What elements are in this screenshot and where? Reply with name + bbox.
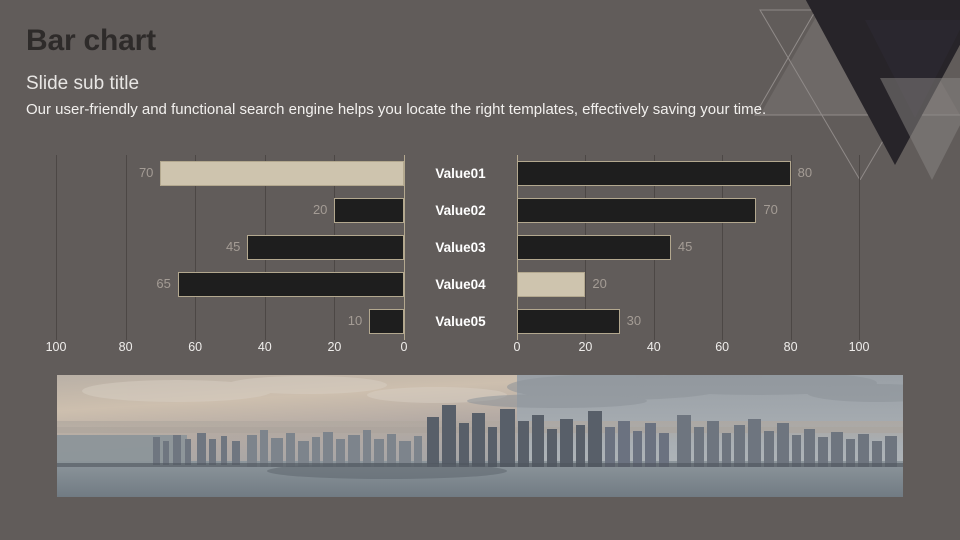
category-label-Value02: Value02 — [404, 192, 517, 229]
bar-Value03[interactable] — [517, 235, 671, 260]
page-title: Bar chart — [26, 26, 156, 56]
bar-Value01[interactable] — [160, 161, 404, 186]
bar-row[interactable]: 70 — [517, 192, 859, 229]
bar-row[interactable]: 10 — [56, 303, 404, 340]
bar-Value02[interactable] — [517, 198, 756, 223]
triangle-dark-overlap — [865, 20, 960, 118]
bar-value-label: 10 — [348, 314, 362, 327]
bar-value-label: 45 — [226, 240, 240, 253]
gridline-100 — [859, 155, 860, 340]
category-label-column: Value01Value02Value03Value04Value05 — [404, 155, 517, 340]
bar-row[interactable]: 20 — [517, 266, 859, 303]
bar-Value05[interactable] — [517, 309, 620, 334]
x-axis-left: 100806040200 — [56, 341, 404, 361]
bar-Value05[interactable] — [369, 309, 404, 334]
x-tick-40: 40 — [258, 341, 272, 354]
triangle-dark-down — [795, 0, 960, 165]
triangle-outline-up-left — [755, 8, 879, 115]
bar-row[interactable]: 65 — [56, 266, 404, 303]
x-tick-20: 20 — [578, 341, 592, 354]
triangle-decoration — [700, 0, 960, 180]
bar-row[interactable]: 45 — [56, 229, 404, 266]
x-axis-right: 020406080100 — [517, 341, 859, 361]
x-tick-20: 20 — [327, 341, 341, 354]
x-tick-80: 80 — [784, 341, 798, 354]
triangle-light-upper — [760, 0, 960, 115]
x-tick-60: 60 — [188, 341, 202, 354]
bar-chart-left: 7020456510 — [56, 155, 404, 340]
bar-value-label: 30 — [627, 314, 641, 327]
bar-value-label: 20 — [592, 277, 606, 290]
bar-value-label: 20 — [313, 203, 327, 216]
bar-chart-group: 7020456510 Value01Value02Value03Value04V… — [0, 155, 960, 360]
bar-row[interactable]: 30 — [517, 303, 859, 340]
bar-row[interactable]: 20 — [56, 192, 404, 229]
cityscape-photo-svg — [57, 375, 903, 497]
bar-chart-right: 8070452030 — [517, 155, 859, 340]
x-tick-0: 0 — [401, 341, 408, 354]
bar-Value03[interactable] — [247, 235, 404, 260]
bar-Value01[interactable] — [517, 161, 791, 186]
bar-value-label: 45 — [678, 240, 692, 253]
x-tick-0: 0 — [514, 341, 521, 354]
x-tick-80: 80 — [119, 341, 133, 354]
triangle-outline-up-right — [880, 8, 960, 115]
bar-row[interactable]: 45 — [517, 229, 859, 266]
bar-value-label: 80 — [798, 166, 812, 179]
bar-Value04[interactable] — [178, 272, 404, 297]
category-label-Value01: Value01 — [404, 155, 517, 192]
x-tick-100: 100 — [849, 341, 870, 354]
triangle-decoration-svg — [700, 0, 960, 180]
bar-value-label: 70 — [763, 203, 777, 216]
bar-Value04[interactable] — [517, 272, 585, 297]
x-tick-60: 60 — [715, 341, 729, 354]
page-lead-text: Our user-friendly and functional search … — [26, 100, 766, 120]
x-tick-100: 100 — [46, 341, 67, 354]
slide-canvas: Bar chart Slide sub title Our user-frien… — [0, 0, 960, 540]
category-label-Value03: Value03 — [404, 229, 517, 266]
bar-value-label: 65 — [156, 277, 170, 290]
x-tick-40: 40 — [647, 341, 661, 354]
bar-value-label: 70 — [139, 166, 153, 179]
category-label-Value05: Value05 — [404, 303, 517, 340]
bar-row[interactable]: 70 — [56, 155, 404, 192]
page-subtitle: Slide sub title — [26, 74, 139, 93]
category-label-Value04: Value04 — [404, 266, 517, 303]
bar-row[interactable]: 80 — [517, 155, 859, 192]
cityscape-photo — [57, 375, 903, 497]
bar-Value02[interactable] — [334, 198, 404, 223]
